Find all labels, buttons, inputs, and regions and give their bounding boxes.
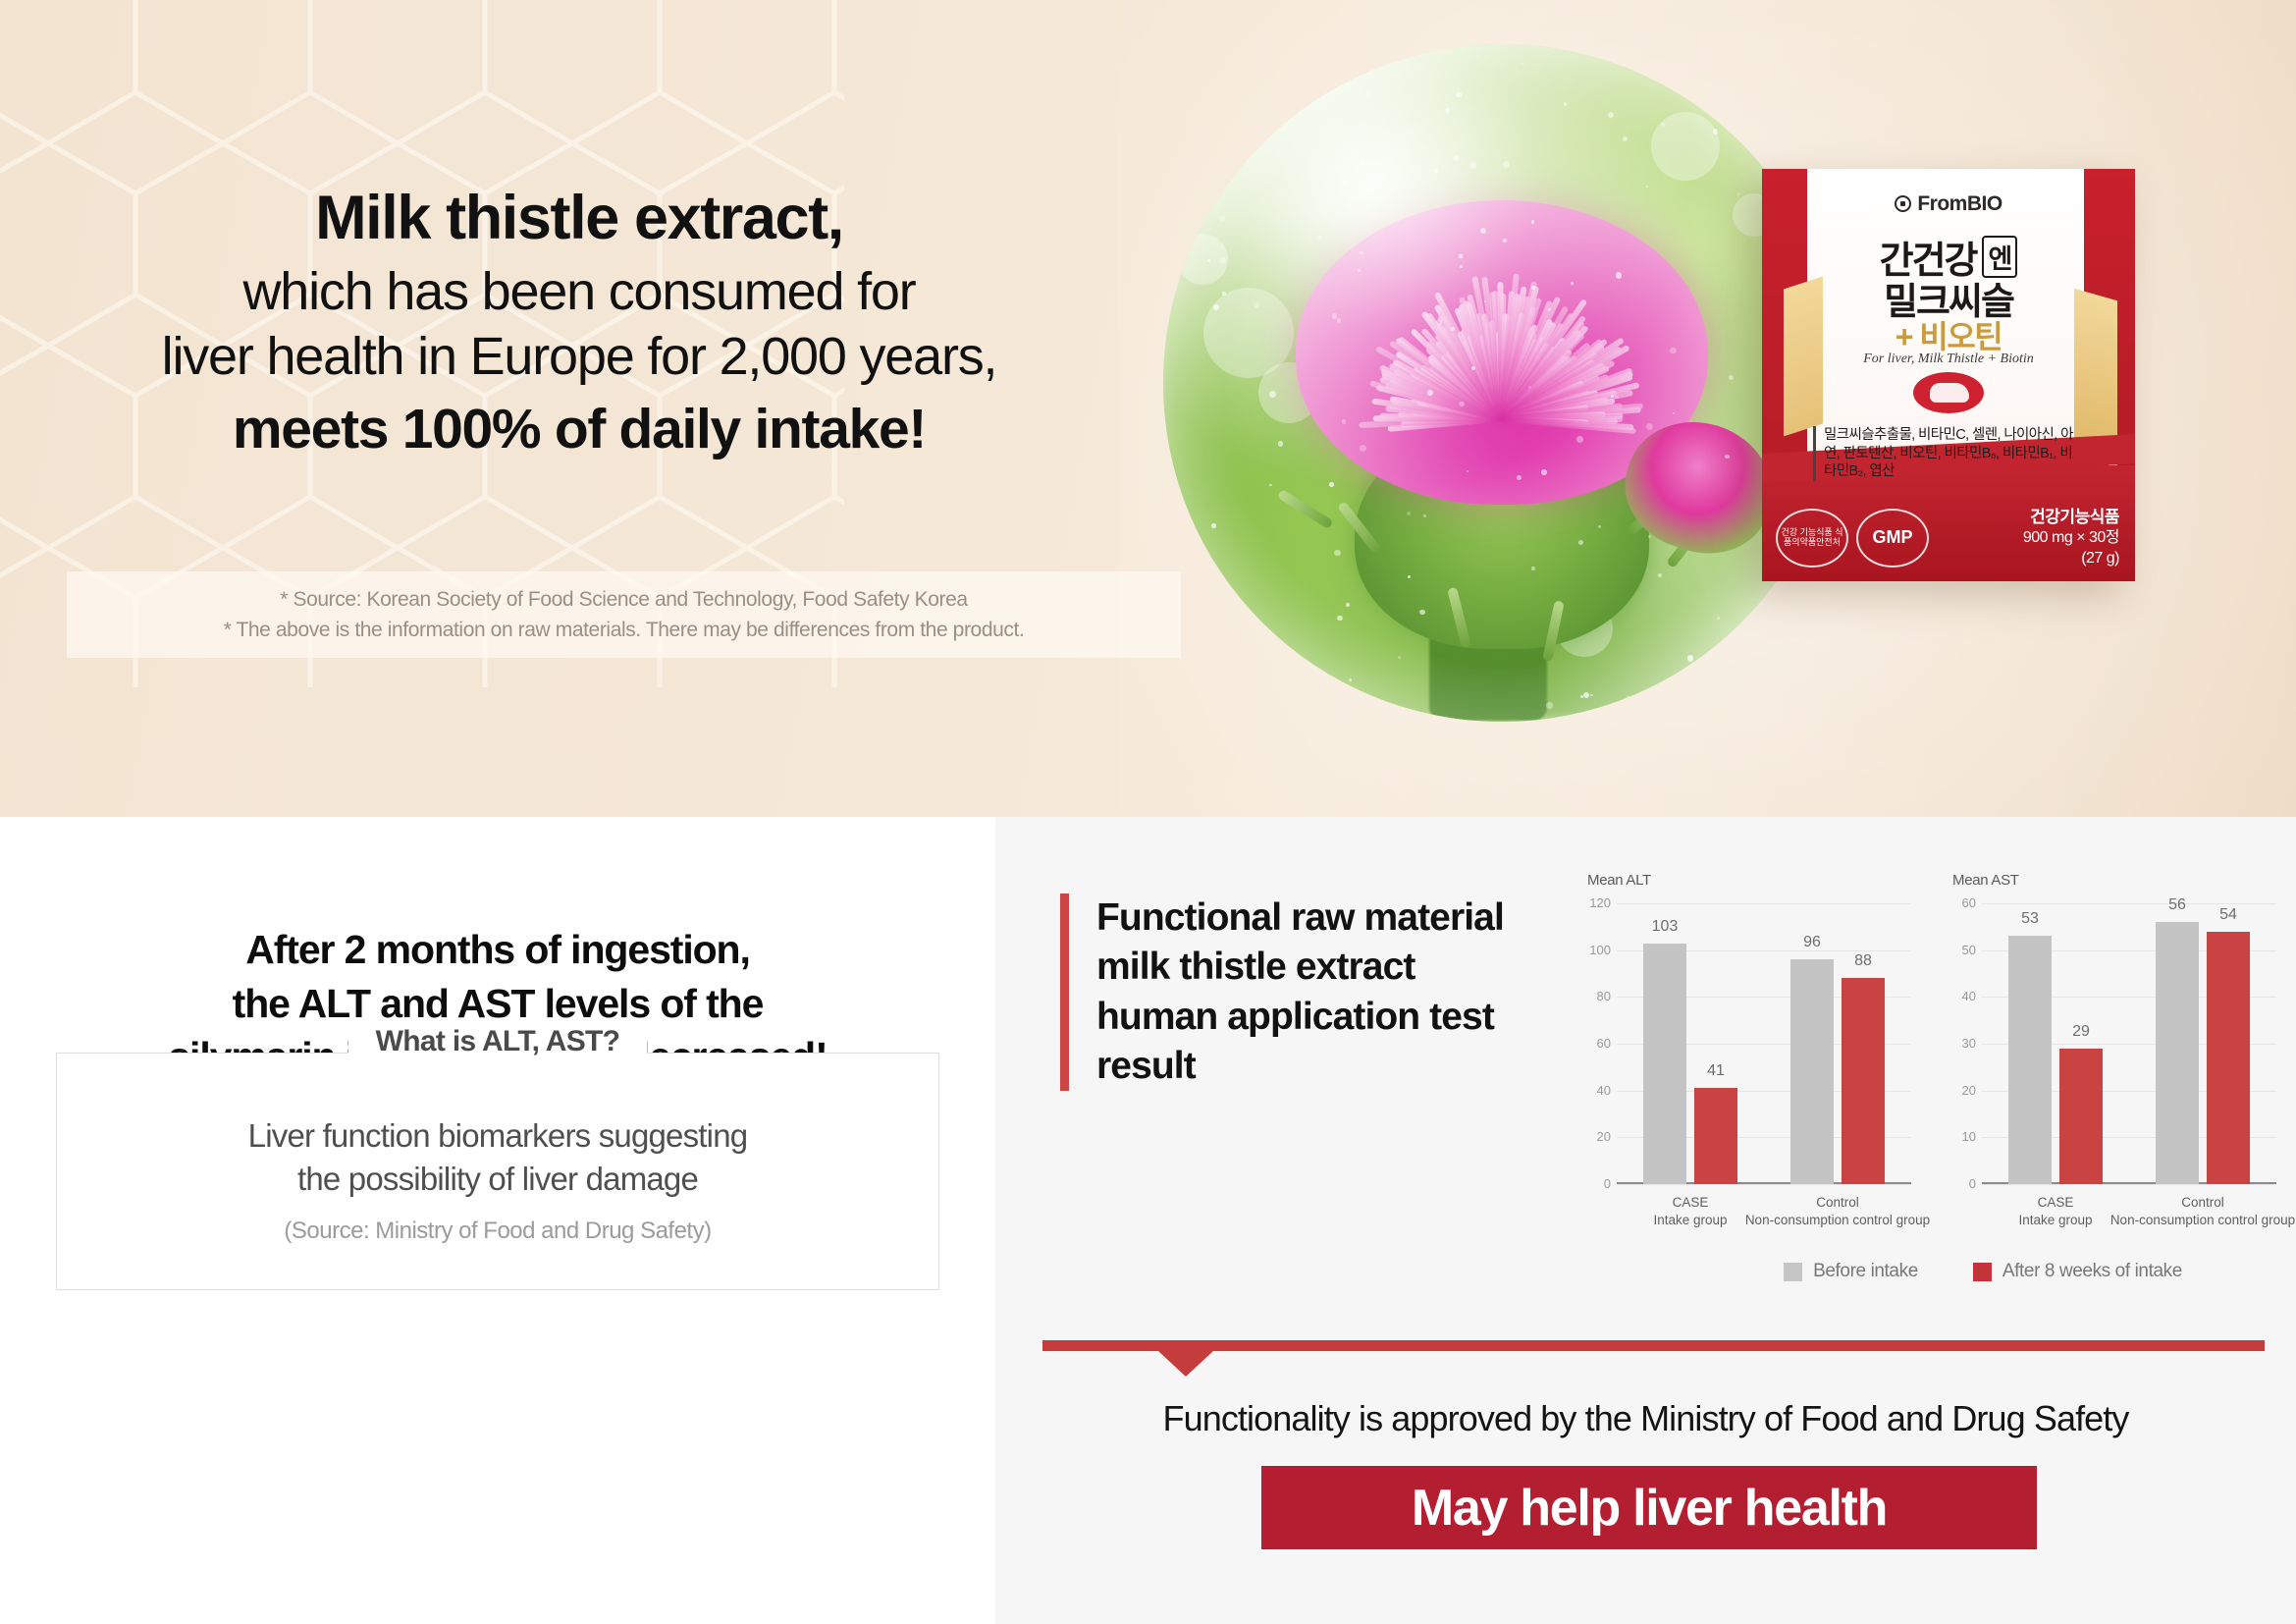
bar-value-label: 41 [1672,1062,1760,1080]
product-spec-line1: 건강기능식품 [2023,507,2119,528]
chart-bar [2207,932,2250,1184]
legend-swatch-gray-icon [1784,1263,1802,1281]
y-axis-tick: 50 [1939,943,1976,957]
alt-ast-card-body: Liver function biomarkers suggesting the… [56,1114,939,1201]
liver-icon [1913,372,1984,413]
bar-value-label: 88 [1819,952,1907,970]
bar-value-label: 29 [2037,1023,2125,1041]
chart-mean-ast: Mean AST 01020304050605329CASEIntake gro… [1931,872,2284,1235]
legend-label-after: After 8 weeks of intake [2002,1261,2182,1282]
hero-headline-line2: which has been consumed for [0,260,1158,325]
product-spec: 건강기능식품 900 mg × 30정 (27 g) [2023,507,2119,569]
hero-headline-line1: Milk thistle extract, [0,182,1158,254]
x-label-line1: Control [1730,1194,1946,1212]
hero-source-note-line1: * Source: Korean Society of Food Science… [280,584,967,616]
product-spec-line3: (27 g) [2023,549,2119,569]
legend-item-after: After 8 weeks of intake [1973,1261,2182,1282]
health-functional-food-seal-icon: 건강 기능식품 식품의약품안전처 [1776,509,1848,568]
hero-headline-line4: meets 100% of daily intake! [0,396,1158,464]
y-axis-tick: 0 [1574,1176,1611,1191]
promotional-page: FromBIO 간건강엔 밀크씨슬 + 비오틴 For liver, Milk … [0,0,2296,1624]
y-axis-tick: 10 [1939,1129,1976,1144]
gridline [1617,1184,1911,1185]
x-label-line2: Non-consumption control group [1730,1212,1946,1229]
hero-headline: Milk thistle extract, which has been con… [0,182,1158,464]
y-axis-tick: 40 [1939,989,1976,1003]
alt-ast-body-line1: Liver function biomarkers suggesting [56,1114,939,1158]
chart-alt-plot: 02040608010012010341CASEIntake group9688… [1617,903,1911,1184]
y-axis-tick: 100 [1574,943,1611,957]
legend-item-before: Before intake [1784,1261,1918,1282]
y-axis-tick: 0 [1939,1176,1976,1191]
milk-thistle-photo [1163,44,1841,722]
y-axis-tick: 60 [1574,1036,1611,1051]
chart-bar [1842,978,1885,1184]
y-axis-tick: 40 [1574,1083,1611,1098]
chart-ast-plot: 01020304050605329CASEIntake group5654Con… [1982,903,2276,1184]
x-label-line2: Non-consumption control group [2095,1212,2296,1229]
x-axis-group-label: ControlNon-consumption control group [2095,1194,2296,1229]
bar-value-label: 96 [1768,934,1856,951]
product-ingredients: 밀크씨슬추출물, 비타민C, 셀렌, 나이아신, 아연, 판토텐산, 비오틴, … [1813,426,2080,481]
y-axis-tick: 80 [1574,989,1611,1003]
gridline [1982,903,2276,904]
x-axis-group-label: ControlNon-consumption control group [1730,1194,1946,1229]
y-axis-tick: 120 [1574,895,1611,910]
y-axis-tick: 20 [1574,1129,1611,1144]
y-axis-tick: 30 [1939,1036,1976,1051]
x-label-line1: Control [2095,1194,2296,1212]
chart-bar [2059,1049,2103,1184]
section-divider-arrow-icon [1042,1340,2265,1351]
y-axis-tick: 60 [1939,895,1976,910]
y-axis-tick: 20 [1939,1083,1976,1098]
bar-value-label: 54 [2184,906,2272,924]
chart-mean-alt: Mean ALT 02040608010012010341CASEIntake … [1566,872,1919,1235]
brand-name: FromBIO [1917,192,2002,215]
chart-alt-title: Mean ALT [1587,872,1651,889]
alt-ast-body-line2: the possibility of liver damage [56,1158,939,1201]
chart-bar [2008,936,2052,1184]
chart-ast-title: Mean AST [1952,872,2019,889]
gridline [1617,903,1911,904]
gmp-seal-icon: GMP [1856,509,1929,568]
charts-container: Mean ALT 02040608010012010341CASEIntake … [1566,872,2296,1235]
product-subtitle-en: For liver, Milk Thistle + Biotin [1762,352,2135,367]
hero-source-note: * Source: Korean Society of Food Science… [67,571,1181,658]
hero-headline-line3: liver health in Europe for 2,000 years, [0,325,1158,390]
left-headline-line1: After 2 months of ingestion, [0,923,995,977]
product-package: FromBIO 간건강엔 밀크씨슬 + 비오틴 For liver, Milk … [1762,169,2135,581]
hero-source-note-line2: * The above is the information on raw ma… [224,615,1025,646]
approval-text: Functionality is approved by the Ministr… [995,1398,2296,1439]
legend-label-before: Before intake [1813,1261,1918,1282]
chart-legend: Before intake After 8 weeks of intake [1669,1261,2296,1282]
bar-value-label: 103 [1621,918,1709,936]
right-headline: Functional raw material milk thistle ext… [1060,893,1522,1091]
alt-ast-card-title: What is ALT, AST? [0,1025,995,1058]
chart-bar [2156,922,2199,1184]
bar-value-label: 53 [1986,910,2074,928]
chart-bar [1790,959,1834,1184]
product-spec-line2: 900 mg × 30정 [2023,528,2119,549]
alt-ast-card-source: (Source: Ministry of Food and Drug Safet… [56,1218,939,1245]
legend-swatch-red-icon [1973,1263,1992,1281]
left-headline-line2: the ALT and AST levels of the [0,977,995,1031]
chart-bar [1694,1088,1737,1184]
claim-banner: May help liver health [1261,1466,2037,1549]
hero-section: FromBIO 간건강엔 밀크씨슬 + 비오틴 For liver, Milk … [0,0,2296,817]
gridline [1982,1184,2276,1185]
frombio-mark-icon [1895,195,1911,212]
brand-logo: FromBIO [1762,192,2135,216]
